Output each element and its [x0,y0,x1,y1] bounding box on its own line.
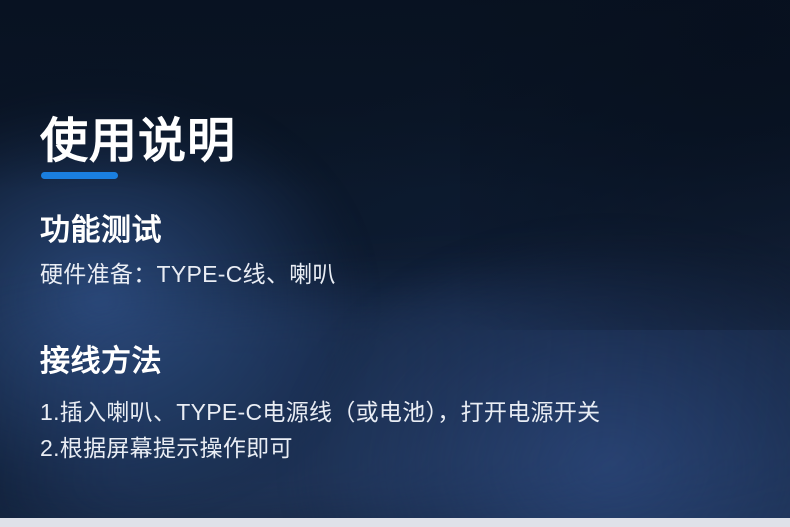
accent-bar [41,172,118,179]
list-item: 1.插入喇叭、TYPE-C电源线（或电池），打开电源开关 [40,394,600,430]
section-wiring-method: 接线方法 1.插入喇叭、TYPE-C电源线（或电池），打开电源开关 2.根据屏幕… [40,345,600,466]
wiring-step-list: 1.插入喇叭、TYPE-C电源线（或电池），打开电源开关 2.根据屏幕提示操作即… [40,394,600,466]
section-function-test: 功能测试 硬件准备：TYPE-C线、喇叭 [40,214,336,286]
bottom-strip [0,518,790,527]
list-item: 2.根据屏幕提示操作即可 [40,430,600,466]
section-heading-function-test: 功能测试 [40,214,336,249]
page-title: 使用说明 [40,114,236,169]
banner-content: 使用说明 功能测试 硬件准备：TYPE-C线、喇叭 接线方法 1.插入喇叭、TY… [0,0,790,527]
instructions-banner: 使用说明 功能测试 硬件准备：TYPE-C线、喇叭 接线方法 1.插入喇叭、TY… [0,0,790,527]
section-heading-wiring-method: 接线方法 [40,345,600,380]
hardware-preparation-text: 硬件准备：TYPE-C线、喇叭 [40,263,336,286]
